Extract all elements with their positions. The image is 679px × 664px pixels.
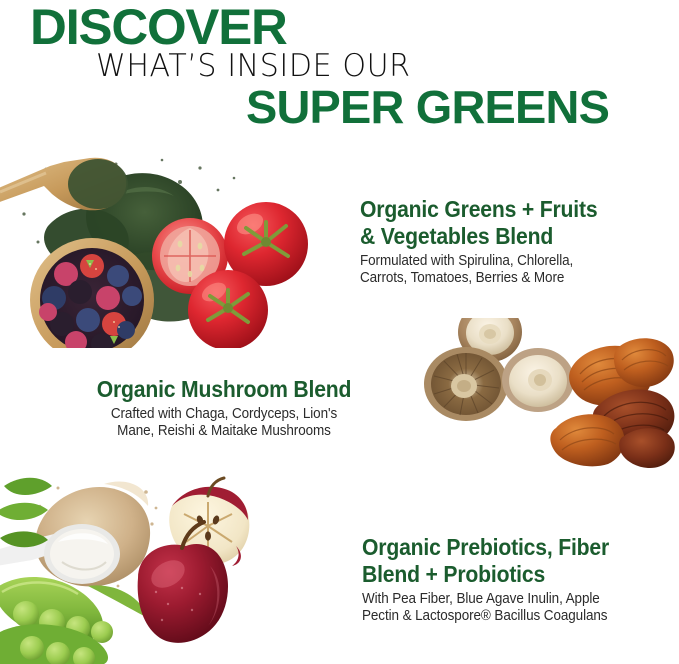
mushroom-cluster-photo bbox=[424, 318, 676, 470]
pea-powder-apple-photo bbox=[0, 462, 264, 664]
block-prebiotic-subtitle-line2: Pectin & Lactospore® Bacillus Coagulans bbox=[362, 608, 612, 625]
block-organic-mushroom-blend: Organic Mushroom Blend Crafted with Chag… bbox=[74, 376, 374, 440]
headline-line-whats-inside-our: WHAT’S INSIDE OUR bbox=[96, 50, 411, 82]
headline-line-super-greens: SUPER GREENS bbox=[246, 83, 609, 131]
block-greens-title-line1: Organic Greens + Fruits bbox=[360, 196, 597, 223]
block-mushroom-subtitle-line2: Mane, Reishi & Maitake Mushrooms bbox=[85, 423, 364, 440]
block-prebiotic-title-line2: Blend + Probiotics bbox=[362, 561, 609, 588]
headline-group: DISCOVER WHAT’S INSIDE OUR SUPER GREENS bbox=[0, 0, 679, 140]
block-organic-prebiotics-fiber: Organic Prebiotics, Fiber Blend + Probio… bbox=[362, 534, 631, 625]
block-greens-subtitle-line1: Formulated with Spirulina, Chlorella, bbox=[360, 253, 600, 270]
block-mushroom-title: Organic Mushroom Blend bbox=[86, 376, 362, 403]
block-prebiotic-subtitle-line1: With Pea Fiber, Blue Agave Inulin, Apple bbox=[362, 591, 612, 608]
infographic-page: DISCOVER WHAT’S INSIDE OUR SUPER GREENS bbox=[0, 0, 679, 664]
block-prebiotic-title-line1: Organic Prebiotics, Fiber bbox=[362, 534, 609, 561]
block-greens-subtitle-line2: Carrots, Tomatoes, Berries & More bbox=[360, 270, 600, 287]
block-organic-greens-fruits: Organic Greens + Fruits & Vegetables Ble… bbox=[360, 196, 618, 287]
block-greens-title-line2: & Vegetables Blend bbox=[360, 223, 597, 250]
spirulina-powder-berries-tomatoes-photo bbox=[0, 138, 346, 348]
block-mushroom-subtitle-line1: Crafted with Chaga, Cordyceps, Lion's bbox=[85, 406, 364, 423]
headline-line-discover: DISCOVER bbox=[30, 2, 287, 52]
